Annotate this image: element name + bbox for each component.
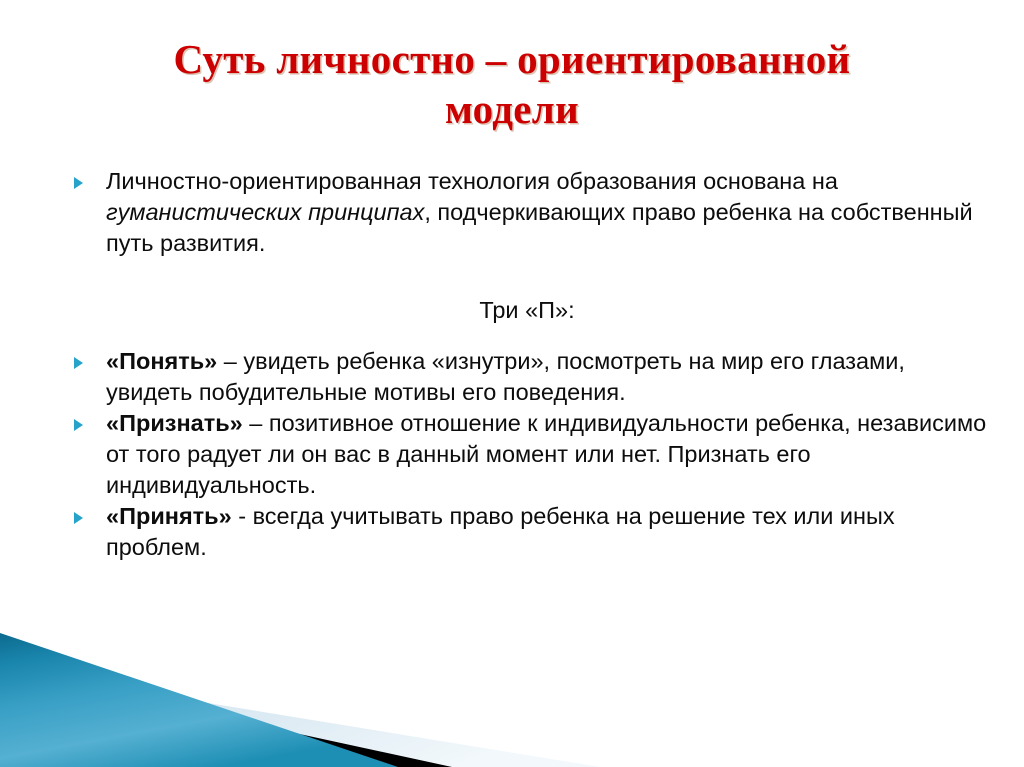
paragraph-intro: Личностно-ориентированная технология обр… <box>66 166 988 259</box>
list-item: «Признать» – позитивное отношение к инди… <box>66 408 988 501</box>
corner-ribbon-decoration <box>0 607 1024 767</box>
list-item-term: «Принять» <box>106 503 232 529</box>
spacer <box>66 326 988 346</box>
triangle-right-icon <box>74 419 83 431</box>
section-heading: Три «П»: <box>66 295 988 326</box>
list-item: «Понять» – увидеть ребенка «изнутри», по… <box>66 346 988 408</box>
intro-emphasis: гуманистических принципах <box>106 199 424 225</box>
list-item: «Принять» - всегда учитывать право ребен… <box>66 501 988 563</box>
spacer <box>66 259 988 295</box>
list-item-text: – увидеть ребенка «изнутри», посмотреть … <box>106 348 905 405</box>
list-item-term: «Понять» <box>106 348 217 374</box>
triangle-right-icon <box>74 512 83 524</box>
slide-canvas: Суть личностно – ориентированной модели … <box>0 0 1024 767</box>
slide-body: Личностно-ориентированная технология обр… <box>66 166 988 563</box>
triangle-right-icon <box>74 357 83 369</box>
triangle-right-icon <box>74 177 83 189</box>
black-wedge <box>0 669 452 767</box>
section-heading-label: Три «П»: <box>479 297 574 323</box>
list-item-term: «Признать» <box>106 410 243 436</box>
intro-part1: Личностно-ориентированная технология обр… <box>106 168 838 194</box>
teal-wedge <box>0 633 398 767</box>
page-title: Суть личностно – ориентированной модели <box>70 34 954 134</box>
pale-blue-wedge <box>0 669 600 767</box>
